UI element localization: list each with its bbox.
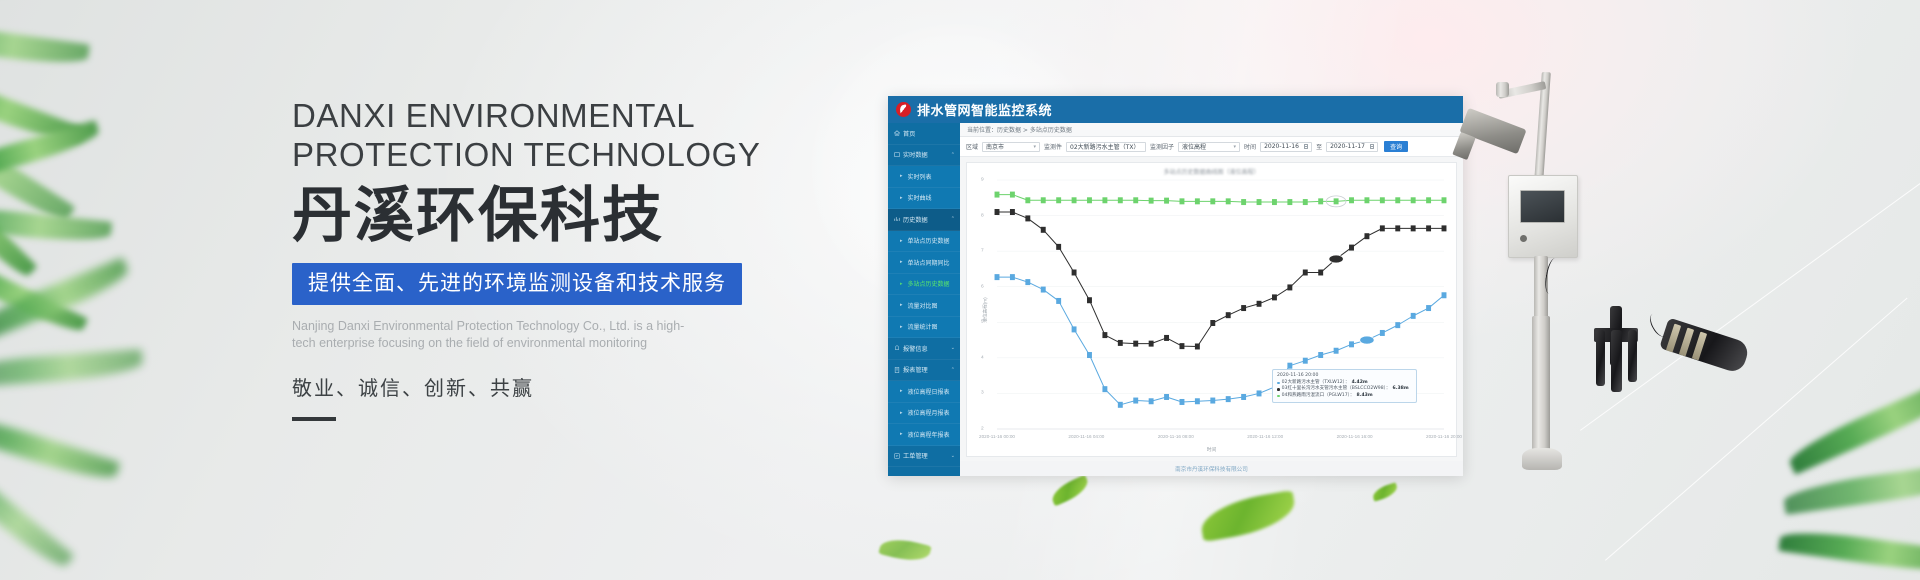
station-select[interactable]: 02大新路污水主管（TX）	[1066, 142, 1146, 152]
sidebar-item-label: 液位高程年报表	[908, 430, 950, 439]
slogan-banner: 提供全面、先进的环境监测设备和技术服务	[292, 263, 742, 305]
sidebar-item-4[interactable]: 历史数据⌃	[888, 209, 960, 231]
date-to-input[interactable]: 2020-11-17	[1326, 142, 1378, 152]
sidebar-item-7[interactable]: 多站点历史数据	[888, 274, 960, 296]
sidebar-item-label: 首页	[903, 129, 915, 138]
x-axis-tick: 2020-11-16 00:00	[979, 434, 1015, 439]
sidebar: 首页实时数据⌃实时列表实时曲线历史数据⌃单站点历史数据单站点同期同比多站点历史数…	[888, 123, 960, 476]
chevron-up-icon: ⌃	[951, 216, 955, 222]
x-axis-tick: 2020-11-16 04:00	[1068, 434, 1104, 439]
chart-icon	[894, 216, 900, 222]
chevron-up-icon: ⌃	[951, 152, 955, 158]
company-description: Nanjing Danxi Environmental Protection T…	[292, 318, 692, 352]
station-value: 02大新路污水主管（TX）	[1070, 142, 1139, 151]
x-axis-tick: 2020-11-16 16:00	[1337, 434, 1373, 439]
cabinet-knob-icon	[1520, 235, 1527, 242]
date-separator: 至	[1316, 142, 1322, 151]
y-axis-tick: 2	[981, 427, 984, 432]
chart-title: 多站点历史数据曲线图（液位高程）	[967, 167, 1456, 176]
camera-arm-icon	[1496, 82, 1509, 97]
sidebar-item-label: 报表管理	[903, 365, 928, 374]
sidebar-item-label: 报警信息	[903, 344, 928, 353]
app-title: 排水管网智能监控系统	[917, 100, 1052, 119]
hero-text-block: DANXI ENVIRONMENTAL PROTECTION TECHNOLOG…	[292, 96, 952, 421]
calendar-icon	[1304, 144, 1308, 149]
factor-select[interactable]: 液位高程 ▾	[1178, 142, 1240, 152]
monitoring-system-screenshot: 排水管网智能监控系统 首页实时数据⌃实时列表实时曲线历史数据⌃单站点历史数据单站…	[888, 96, 1463, 476]
y-axis-tick: 5	[981, 320, 984, 325]
sidebar-item-label: 历史数据	[903, 215, 928, 224]
y-axis-tick: 8	[981, 213, 984, 218]
tooltip-series-name: 03红十里长沟污水支管污水主管（BSLCCO2W98）：	[1282, 386, 1391, 393]
sidebar-item-5[interactable]: 单站点历史数据	[888, 231, 960, 253]
bell-icon	[894, 345, 900, 351]
app-body: 首页实时数据⌃实时列表实时曲线历史数据⌃单站点历史数据单站点同期同比多站点历史数…	[888, 123, 1463, 476]
tooltip-series-value: 6.38m	[1393, 386, 1409, 393]
probe-electrode-icon	[1596, 330, 1605, 386]
chart-tooltip: 2020-11-16 20:00 02大新路污水主管（TXLW12）：4.42m…	[1272, 369, 1417, 403]
divider	[292, 417, 336, 421]
x-axis-label: 时间	[967, 446, 1456, 453]
sidebar-item-label: 液位高程日报表	[908, 387, 950, 396]
sidebar-item-15[interactable]: 工单管理⌄	[888, 446, 960, 468]
region-value: 南京市	[986, 142, 1004, 151]
y-axis-tick: 4	[981, 355, 984, 360]
tooltip-row: 03红十里长沟污水支管污水主管（BSLCCO2W98）：6.38m	[1277, 386, 1412, 393]
report-icon	[894, 367, 900, 373]
sidebar-item-label: 实时数据	[903, 150, 928, 159]
sidebar-item-label: 实时列表	[908, 172, 932, 181]
y-axis-tick: 3	[981, 391, 984, 396]
region-label: 区域	[966, 142, 978, 151]
app-titlebar: 排水管网智能监控系统	[888, 96, 1463, 123]
chevron-down-icon: ▾	[1234, 144, 1237, 150]
app-footer: 南京市丹溪环保科技有限公司	[960, 461, 1463, 476]
sidebar-item-2[interactable]: 实时列表	[888, 166, 960, 188]
english-title-line-1: DANXI ENVIRONMENTAL	[292, 96, 952, 135]
sidebar-item-label: 实时曲线	[908, 193, 932, 202]
sidebar-item-label: 液位高程月报表	[908, 408, 950, 417]
sidebar-item-label: 工单管理	[903, 451, 928, 460]
time-label: 时间	[1244, 142, 1256, 151]
legend-dot-icon	[1277, 388, 1280, 391]
sidebar-item-label: 单站点同期同比	[908, 258, 950, 267]
date-to-value: 2020-11-17	[1330, 143, 1365, 150]
monitoring-equipment-illustration	[1470, 30, 1920, 550]
sidebar-item-10[interactable]: 报警信息⌄	[888, 338, 960, 360]
sidebar-item-0[interactable]: 首页	[888, 123, 960, 145]
y-axis-tick: 6	[981, 284, 984, 289]
calendar-icon	[1370, 144, 1374, 149]
chevron-up-icon: ⌃	[951, 367, 955, 373]
cabinet-display-icon	[1520, 190, 1565, 223]
date-from-input[interactable]: 2020-11-16	[1260, 142, 1312, 152]
tooltip-series-value: 8.43m	[1357, 393, 1373, 400]
pole-base-icon	[1522, 448, 1562, 470]
chevron-down-icon: ⌄	[951, 345, 955, 351]
ticket-icon	[894, 453, 900, 459]
chart-card: 多站点历史数据曲线图（液位高程） 液位高程(m) 987654322020-11…	[966, 162, 1457, 457]
x-axis-tick: 2020-11-16 08:00	[1158, 434, 1194, 439]
bamboo-leaf-icon	[0, 300, 240, 580]
sidebar-item-3[interactable]: 实时曲线	[888, 188, 960, 210]
home-icon	[894, 130, 900, 136]
factor-label: 监测因子	[1150, 142, 1174, 151]
shield-swoosh-icon	[896, 102, 911, 117]
sidebar-item-label: 单站点历史数据	[908, 236, 950, 245]
chevron-down-icon: ▾	[1034, 144, 1037, 150]
sidebar-item-label: 流量统计图	[908, 322, 938, 331]
search-button[interactable]: 查询	[1384, 141, 1408, 152]
english-title-line-2: PROTECTION TECHNOLOGY	[292, 135, 952, 174]
tooltip-rows: 02大新路污水主管（TXLW12）：4.42m03红十里长沟污水支管污水主管（B…	[1277, 380, 1412, 400]
chevron-down-icon: ⌄	[951, 453, 955, 459]
date-from-value: 2020-11-16	[1264, 143, 1299, 150]
probe-electrode-icon	[1628, 330, 1637, 382]
sidebar-item-11[interactable]: 报表管理⌃	[888, 360, 960, 382]
values-slogan: 敬业、诚信、创新、共赢	[292, 372, 952, 401]
breadcrumb: 当前位置：历史数据 > 多站点历史数据	[960, 123, 1463, 137]
x-axis-tick: 2020-11-16 20:00	[1426, 434, 1462, 439]
sidebar-item-label: 多站点历史数据	[908, 279, 950, 288]
y-axis-tick: 7	[981, 249, 984, 254]
legend-dot-icon	[1277, 395, 1280, 398]
sidebar-item-8[interactable]: 流量对比图	[888, 295, 960, 317]
mounting-pole-icon	[1532, 316, 1550, 454]
tooltip-series-name: 04和燕路雨污混流口（PGLW17）：	[1282, 393, 1355, 400]
factor-value: 液位高程	[1182, 142, 1206, 151]
sidebar-item-14[interactable]: 液位高程年报表	[888, 424, 960, 446]
x-axis-tick: 2020-11-16 12:00	[1247, 434, 1283, 439]
region-select[interactable]: 南京市 ▾	[982, 142, 1040, 152]
sidebar-item-6[interactable]: 单站点同期同比	[888, 252, 960, 274]
tooltip-row: 04和燕路雨污混流口（PGLW17）：8.43m	[1277, 393, 1412, 400]
station-label: 监测件	[1044, 142, 1062, 151]
monitor-icon	[894, 152, 900, 158]
y-axis-tick: 9	[981, 178, 984, 183]
filter-toolbar: 区域 南京市 ▾ 监测件 02大新路污水主管（TX） 监测因子 液位高程 ▾ 时…	[960, 137, 1463, 157]
legend-dot-icon	[1277, 382, 1280, 385]
y-axis-label: 液位高程(m)	[983, 297, 989, 322]
sidebar-item-12[interactable]: 液位高程日报表	[888, 381, 960, 403]
sidebar-item-1[interactable]: 实时数据⌃	[888, 145, 960, 167]
sidebar-item-label: 流量对比图	[908, 301, 938, 310]
probe-electrode-icon	[1611, 330, 1622, 392]
tooltip-time: 2020-11-16 20:00	[1277, 373, 1412, 380]
sidebar-item-13[interactable]: 液位高程月报表	[888, 403, 960, 425]
sidebar-item-9[interactable]: 流量统计图	[888, 317, 960, 339]
page-title: 丹溪环保科技	[292, 183, 952, 249]
content-area: 当前位置：历史数据 > 多站点历史数据 区域 南京市 ▾ 监测件 02大新路污水…	[960, 123, 1463, 476]
